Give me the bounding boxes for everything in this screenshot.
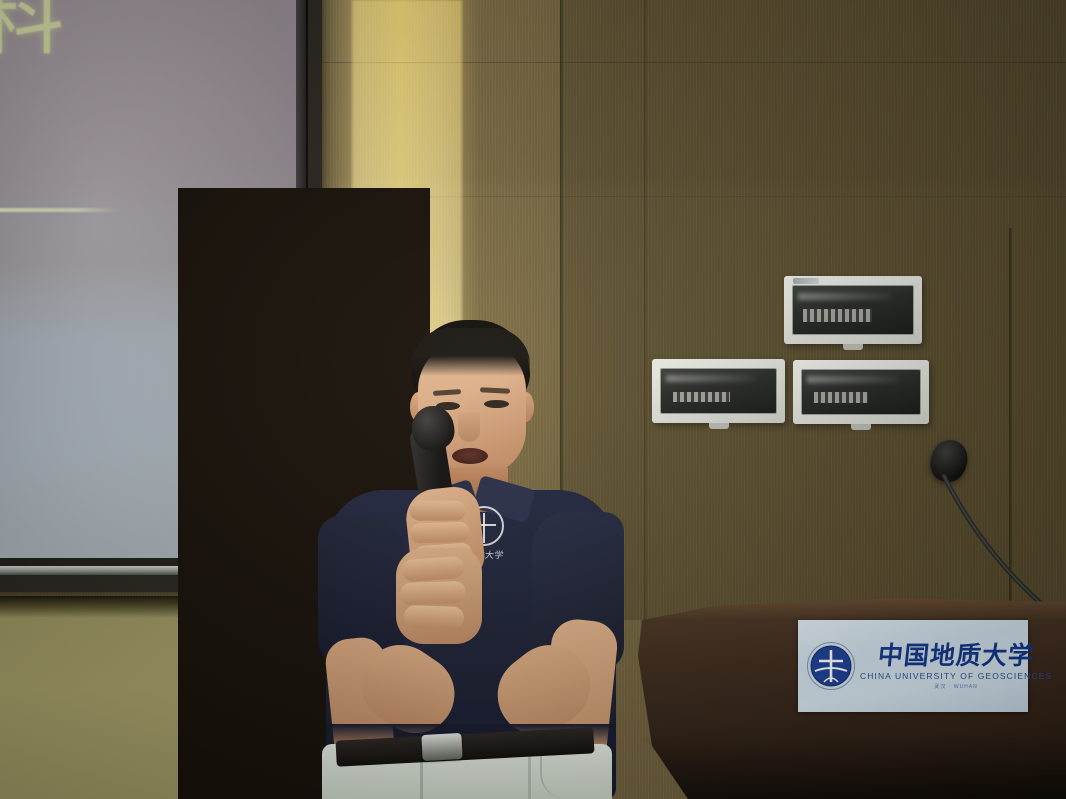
- electrical-panel-top[interactable]: [784, 276, 922, 344]
- electrical-panel-left[interactable]: [652, 359, 785, 423]
- lecture-hall-photo: 料: [0, 0, 1066, 799]
- university-sign: 中国地质大学 CHINA UNIVERSITY OF GEOSCIENCES 武…: [798, 620, 1028, 712]
- university-emblem-icon: [806, 641, 856, 691]
- finger: [410, 501, 466, 521]
- panel-window: [792, 285, 914, 335]
- finger: [401, 556, 464, 582]
- eye-right: [484, 400, 509, 408]
- hairline: [412, 328, 530, 376]
- panel-window: [660, 368, 777, 414]
- university-sign-subline: 武汉 · WUHAN: [934, 683, 977, 690]
- slide-underline: [0, 208, 118, 212]
- circuit-breakers: [803, 309, 873, 321]
- podium-shadow: [636, 736, 1066, 799]
- circuit-breakers: [814, 392, 868, 403]
- hand-lower: [396, 548, 482, 644]
- circuit-breakers: [673, 392, 731, 402]
- trouser-fold: [420, 756, 423, 799]
- panel-latch[interactable]: [709, 423, 729, 429]
- panel-window: [801, 369, 921, 415]
- finger: [400, 581, 467, 605]
- slide-character: 料: [0, 0, 64, 60]
- university-name-en: CHINA UNIVERSITY OF GEOSCIENCES: [860, 671, 1052, 681]
- electrical-panel-right[interactable]: [793, 360, 929, 424]
- belt-buckle: [421, 733, 462, 761]
- university-name-cn: 中国地质大学: [877, 643, 1036, 668]
- panel-latch[interactable]: [843, 344, 863, 350]
- trouser-fold: [528, 752, 531, 799]
- finger: [404, 605, 465, 629]
- panel-latch[interactable]: [851, 424, 871, 430]
- nose: [458, 412, 480, 442]
- university-sign-text: 中国地质大学 CHINA UNIVERSITY OF GEOSCIENCES 武…: [860, 643, 1052, 690]
- panel-brand-label: [793, 278, 819, 284]
- podium-top-edge: [636, 596, 1066, 622]
- speaker: 地质大学: [300, 320, 630, 799]
- finger: [409, 521, 470, 543]
